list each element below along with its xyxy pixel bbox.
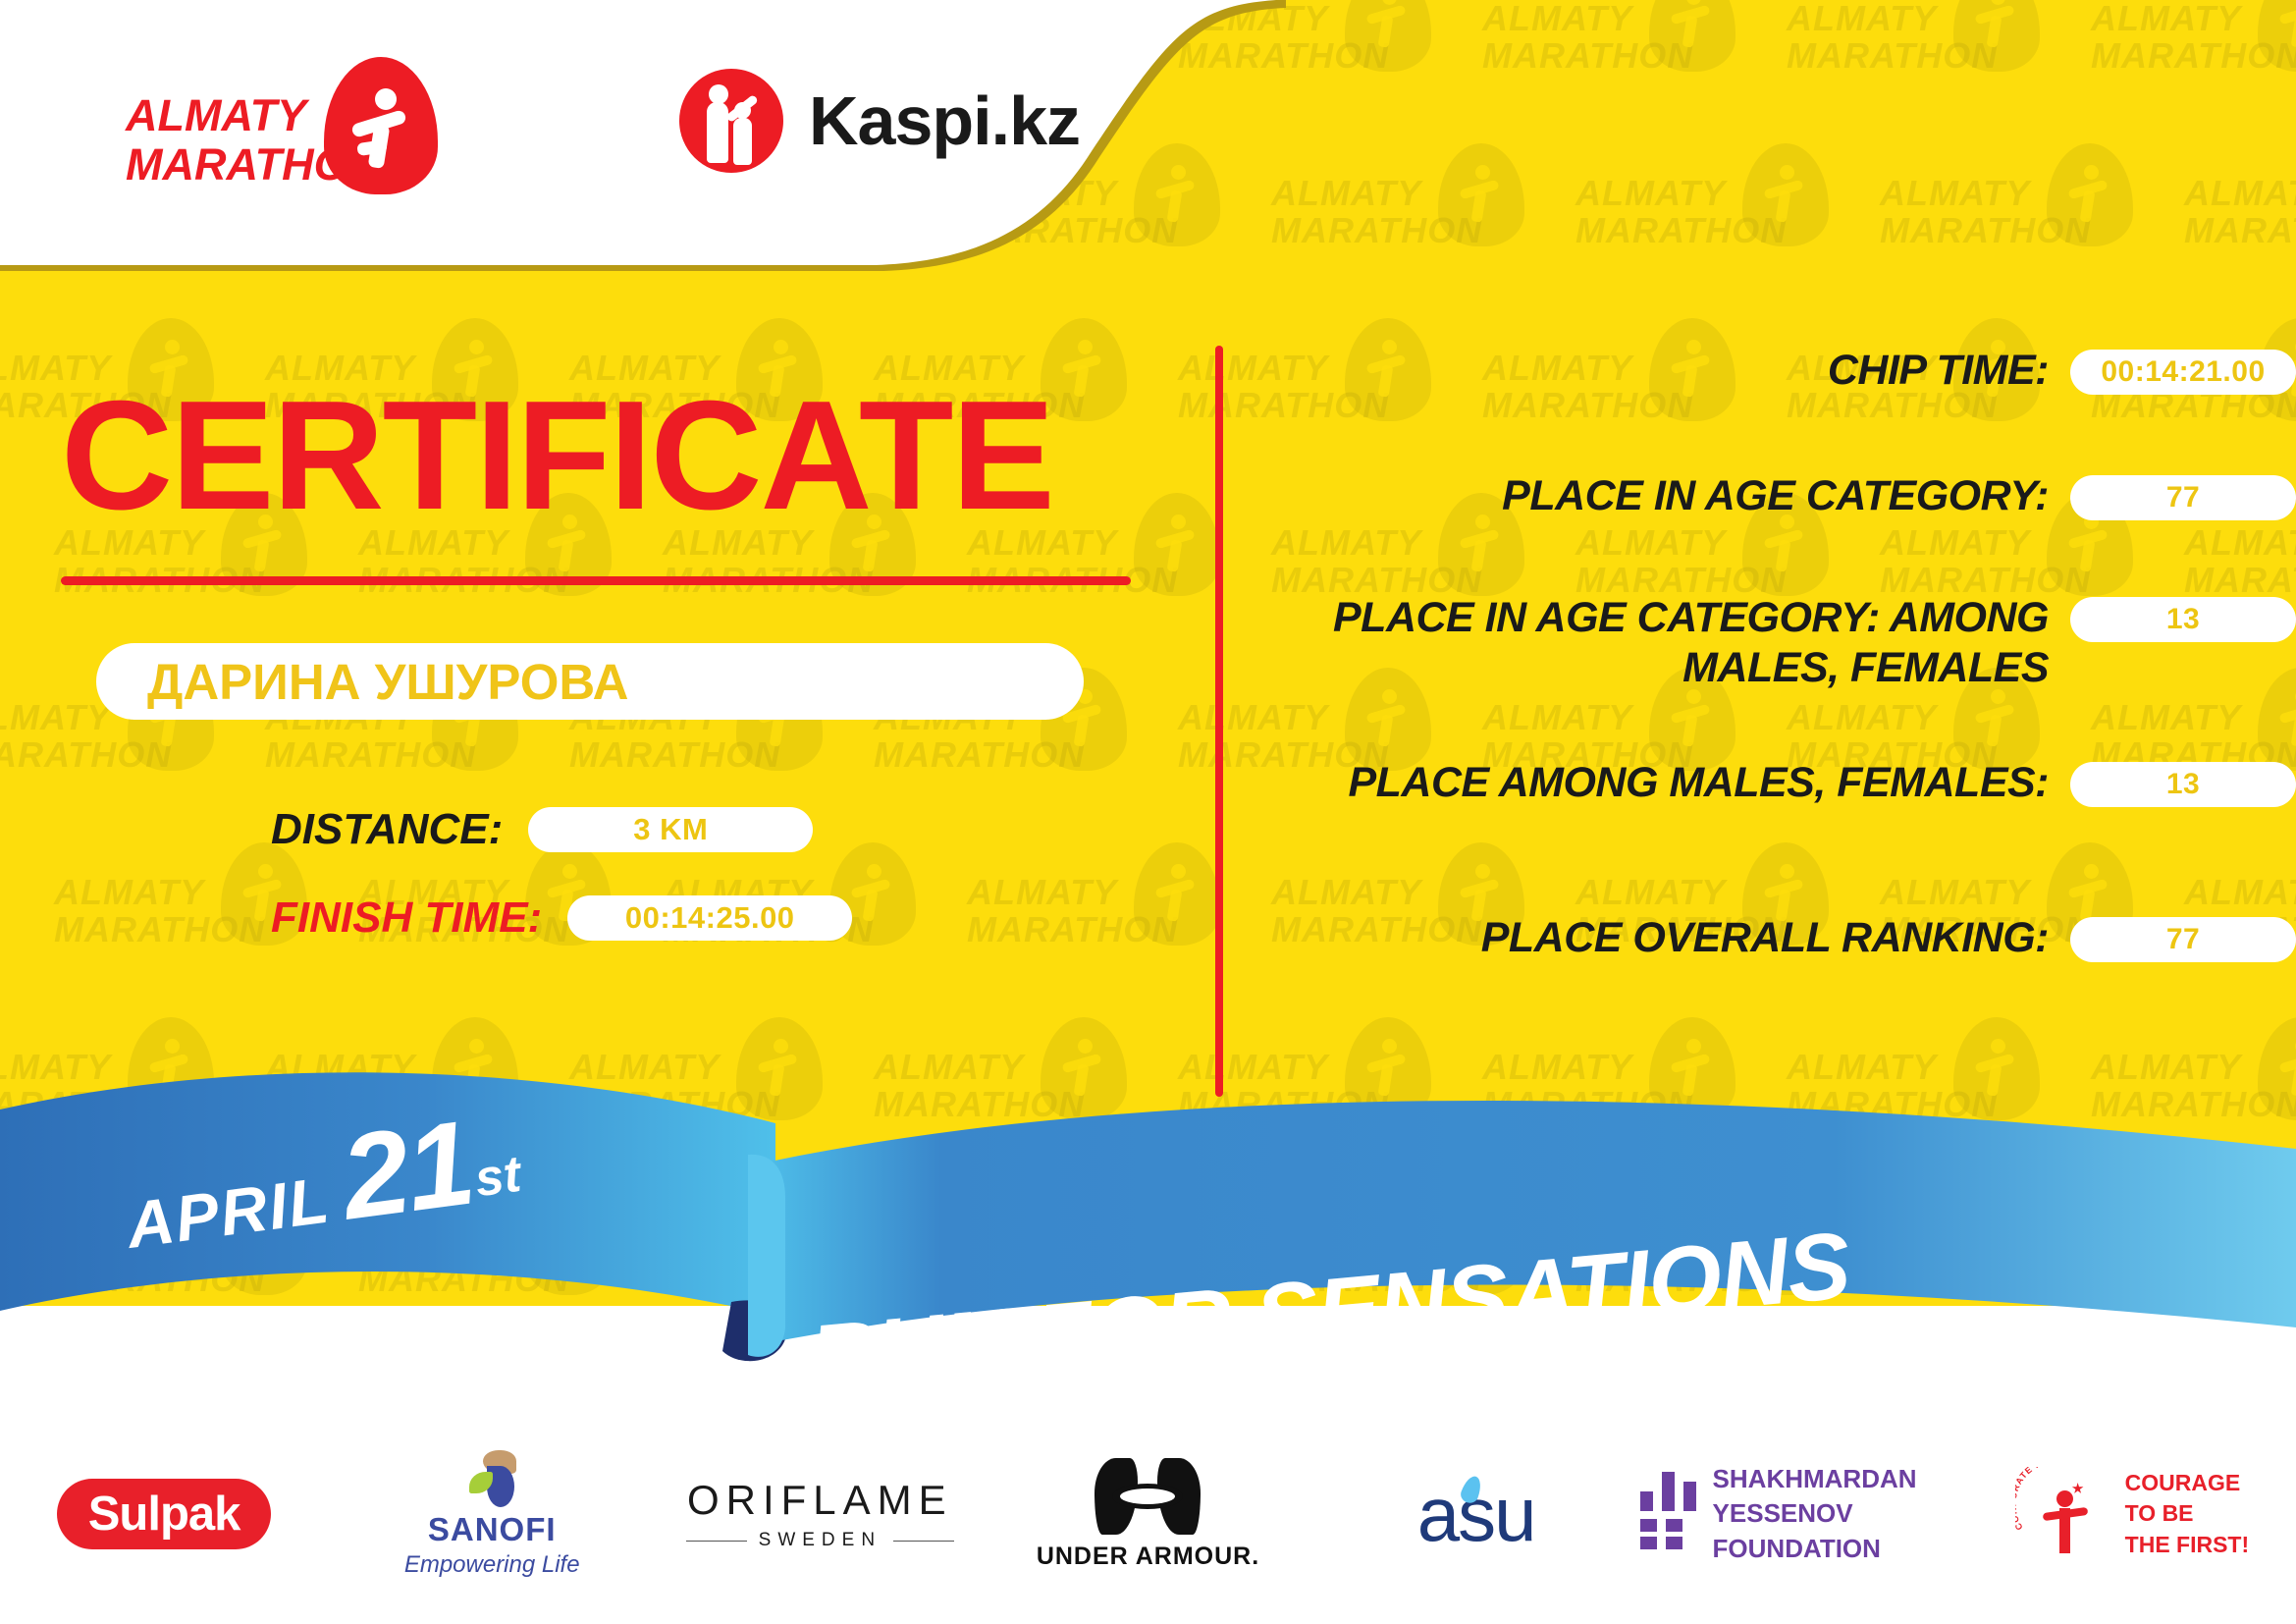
event-month: APRIL [123, 1162, 335, 1262]
watermark-tile: ALMATYMARATHON [1482, 0, 1767, 108]
sponsor-oriflame[interactable]: ORIFLAME SWEDEN [656, 1431, 984, 1597]
asu-logo: asu [1417, 1470, 1535, 1559]
under-armour-wordmark: UNDER ARMOUR. [1037, 1543, 1259, 1571]
event-day: 21 [334, 1094, 480, 1247]
stat-label: PLACE OVERALL RANKING: [1223, 913, 2070, 963]
stat-row-place-overall-ranking: PLACE OVERALL RANKING: 77 [1223, 913, 2296, 963]
watermark-tile: ALMATYMARATHON [2091, 0, 2296, 108]
runner-figure-icon [353, 88, 416, 165]
divider-line-left [686, 1541, 747, 1542]
distance-label: DISTANCE: [271, 805, 503, 854]
cf-line2: TO BE [2125, 1498, 2250, 1529]
stat-row-place-age-category: PLACE IN AGE CATEGORY: 77 [1223, 471, 2296, 521]
stat-value-field: 00:14:21.00 [2070, 350, 2296, 395]
sponsor-bar: Sulpak SANOFI Empowering Life ORIFLAME S… [0, 1404, 2296, 1624]
yessenov-logo: SHAKHMARDAN YESSENOV FOUNDATION [1640, 1462, 1968, 1565]
event-day-ordinal: st [471, 1144, 524, 1209]
yessenov-bars-icon [1640, 1472, 1693, 1556]
corporate-fund-icon: CORPORATE FUND [2015, 1467, 2109, 1561]
watermark-tile: ALMATYMARATHON [1880, 135, 2164, 283]
sanofi-mark-icon [459, 1450, 524, 1507]
oriflame-logo: ORIFLAME SWEDEN [686, 1477, 954, 1551]
stat-value: 77 [2166, 923, 2200, 956]
sponsor-asu[interactable]: asu [1312, 1431, 1640, 1597]
stat-value: 13 [2166, 603, 2200, 636]
distance-row: DISTANCE: 3 KM [271, 805, 813, 854]
stat-row-place-among-males-females: PLACE AMONG MALES, FEMALES: 13 [1223, 758, 2296, 808]
kaspi-wordmark: Kaspi.kz [809, 81, 1080, 160]
kaspi-people-icon [679, 69, 783, 173]
corporate-fund-wordmark: COURAGE TO BE THE FIRST! [2125, 1468, 2250, 1559]
finish-time-row: FINISH TIME: 00:14:25.00 [271, 893, 852, 943]
oriflame-sub: SWEDEN [686, 1530, 954, 1551]
kaspi-logo[interactable]: Kaspi.kz [679, 67, 1080, 175]
certificate-title: CERTIFICATE [61, 378, 1053, 533]
stat-row-chip-time: CHIP TIME: 00:14:21.00 [1223, 346, 2296, 396]
stat-label: PLACE IN AGE CATEGORY: [1223, 471, 2070, 521]
stat-value-field: 13 [2070, 762, 2296, 807]
cf-line3: THE FIRST! [2125, 1530, 2250, 1560]
corporate-fund-figure-icon [2045, 1483, 2086, 1555]
distance-value-field: 3 KM [528, 807, 813, 852]
oriflame-wordmark: ORIFLAME [686, 1477, 954, 1524]
sponsor-yessenov-foundation[interactable]: SHAKHMARDAN YESSENOV FOUNDATION [1640, 1431, 1968, 1597]
vertical-divider [1215, 346, 1223, 1097]
participant-name-value: ДАРИНА УШУРОВА [147, 653, 629, 711]
cf-line1: COURAGE [2125, 1468, 2250, 1498]
finish-time-value: 00:14:25.00 [625, 900, 795, 936]
finish-time-label: FINISH TIME: [271, 893, 542, 943]
stat-value-field: 77 [2070, 475, 2296, 520]
watermark-tile: ALMATYMARATHON [1271, 135, 1556, 283]
divider-line-right [893, 1541, 954, 1542]
corporate-fund-logo: CORPORATE FUND COURAGE TO BE THE FIRST! [2015, 1467, 2250, 1561]
stat-row-place-age-category-among: PLACE IN AGE CATEGORY: AMONG MALES, FEMA… [1223, 593, 2296, 692]
finish-time-value-field: 00:14:25.00 [567, 895, 852, 941]
distance-value: 3 KM [633, 812, 708, 847]
stat-label: PLACE AMONG MALES, FEMALES: [1223, 758, 2070, 808]
sponsor-corporate-fund[interactable]: CORPORATE FUND COURAGE TO BE THE FIRST! [1968, 1431, 2296, 1597]
under-armour-logo: UNDER ARMOUR. [1037, 1458, 1259, 1571]
oriflame-country: SWEDEN [759, 1530, 881, 1551]
participant-name-field: ДАРИНА УШУРОВА [96, 643, 1084, 720]
sanofi-logo: SANOFI Empowering Life [394, 1450, 590, 1579]
yessenov-line2: FOUNDATION [1713, 1532, 1968, 1566]
almaty-marathon-logo[interactable]: ALMATY MARATHON [126, 57, 450, 194]
sanofi-tagline: Empowering Life [394, 1551, 590, 1579]
stat-value: 00:14:21.00 [2101, 355, 2265, 389]
stat-value: 77 [2166, 481, 2200, 514]
under-armour-icon [1095, 1458, 1201, 1535]
sanofi-wordmark: SANOFI [394, 1511, 590, 1548]
watermark-tile: ALMATYMARATHON [1787, 0, 2071, 108]
sulpak-logo: Sulpak [57, 1479, 271, 1549]
title-underline-rule [61, 576, 1131, 585]
watermark-tile: ALMATYMARATHON [2184, 135, 2296, 283]
sponsor-sulpak[interactable]: Sulpak [0, 1431, 328, 1597]
certificate-page: ALMATYMARATHONALMATYMARATHONALMATYMARATH… [0, 0, 2296, 1624]
stat-value: 13 [2166, 768, 2200, 801]
header-panel: ALMATY MARATHON Kaspi.kz [0, 0, 1286, 285]
sponsor-under-armour[interactable]: UNDER ARMOUR. [984, 1431, 1311, 1597]
stats-column: CHIP TIME: 00:14:21.00 PLACE IN AGE CATE… [1223, 346, 2296, 1111]
stat-label: CHIP TIME: [1223, 346, 2070, 396]
left-column: CERTIFICATE ДАРИНА УШУРОВА DISTANCE: 3 K… [0, 295, 1207, 1110]
header-logos: ALMATY MARATHON Kaspi.kz [0, 0, 1178, 285]
stat-label: PLACE IN AGE CATEGORY: AMONG MALES, FEMA… [1223, 593, 2070, 692]
yessenov-line1: SHAKHMARDAN YESSENOV [1713, 1462, 1968, 1531]
stat-value-field: 77 [2070, 917, 2296, 962]
stat-value-field: 13 [2070, 597, 2296, 642]
yessenov-wordmark: SHAKHMARDAN YESSENOV FOUNDATION [1713, 1462, 1968, 1565]
watermark-tile: ALMATYMARATHON [1575, 135, 1860, 283]
sponsor-sanofi[interactable]: SANOFI Empowering Life [328, 1431, 656, 1597]
